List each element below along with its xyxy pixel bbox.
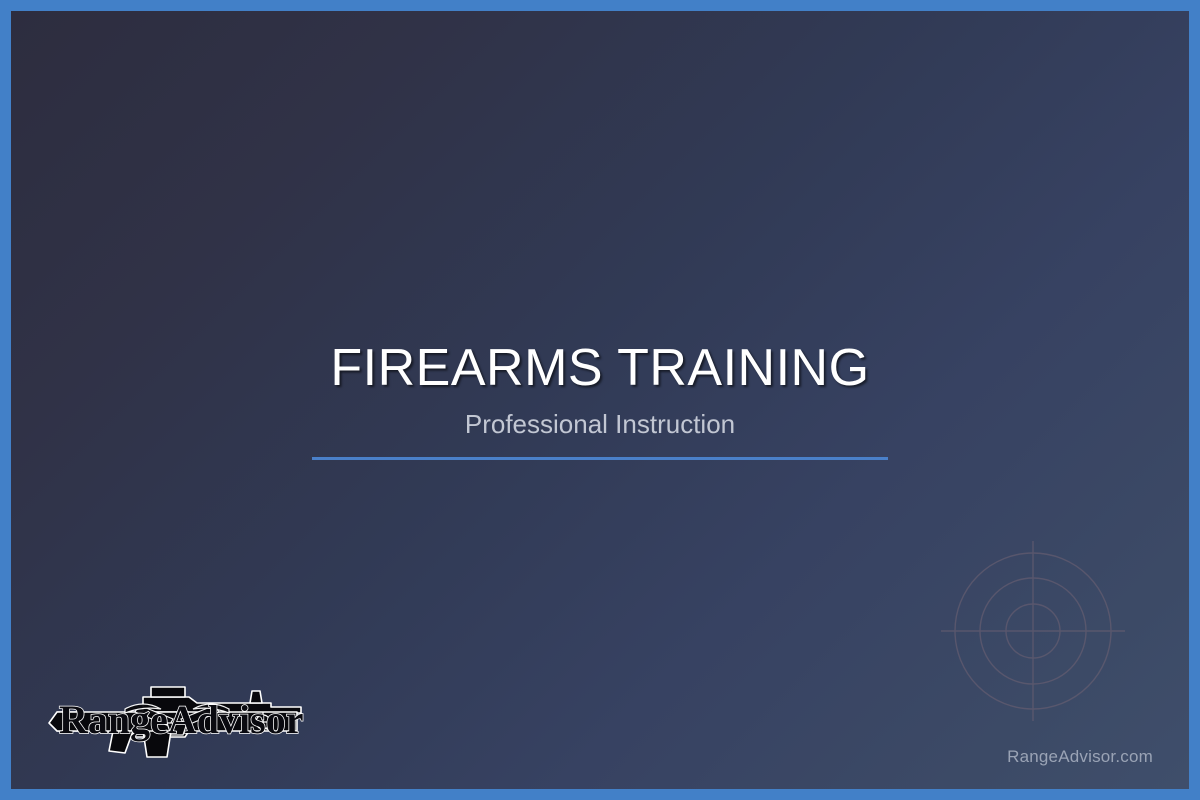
crosshair-target-icon (932, 530, 1134, 732)
accent-divider (312, 457, 888, 460)
title-block: FIREARMS TRAINING Professional Instructi… (11, 341, 1189, 460)
page-subtitle: Professional Instruction (11, 410, 1189, 439)
rangeadvisor-rifle-logo: RangeAdvisor (39, 679, 317, 759)
logo-wordmark: RangeAdvisor (59, 697, 303, 742)
slide-canvas: FIREARMS TRAINING Professional Instructi… (11, 11, 1189, 789)
page-title: FIREARMS TRAINING (11, 341, 1189, 396)
footer-site-url: RangeAdvisor.com (1007, 747, 1153, 767)
presentation-slide: FIREARMS TRAINING Professional Instructi… (0, 0, 1200, 800)
